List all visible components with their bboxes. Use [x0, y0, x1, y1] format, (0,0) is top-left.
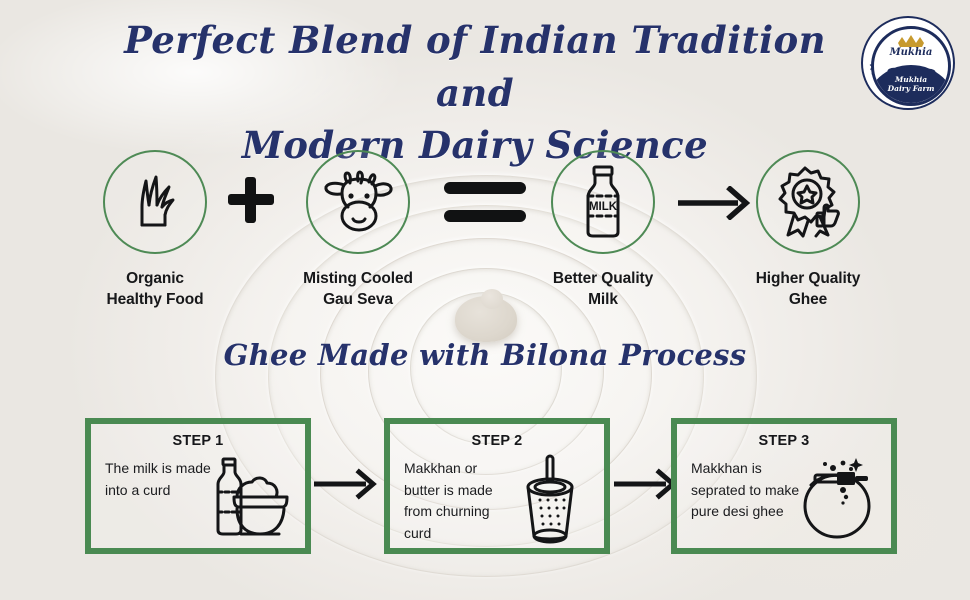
node-caption-1-line1: Organic [126, 270, 184, 287]
equals-icon [444, 180, 526, 224]
logo-brand-sub: Mukhia Dairy Farm [874, 75, 948, 94]
logo-brand-sub-line2: Dairy Farm [888, 84, 935, 93]
node-caption-4-line1: Higher Quality [756, 270, 861, 287]
step-3-title: STEP 3 [677, 433, 891, 449]
milk-droplet-top [481, 289, 503, 309]
step-3-body: Makkhan is seprated to make pure desi gh… [691, 458, 803, 523]
equation-node-organic-healthy-food: Organic Healthy Food [80, 150, 230, 310]
infographic-canvas: Perfect Blend of Indian Tradition and Mo… [0, 0, 970, 600]
award-badge-icon [772, 165, 844, 239]
node-caption-1-line2: Healthy Food [107, 291, 204, 308]
step-2-body: Makkhan or butter is made from churning … [404, 458, 516, 545]
butter-churner-icon [506, 454, 594, 546]
node-caption-3: Better Quality Milk [528, 268, 678, 310]
node-caption-2-line2: Gau Seva [323, 291, 393, 308]
icon-circle-award [756, 150, 860, 254]
equation-node-higher-quality-ghee: Higher Quality Ghee [733, 150, 883, 310]
logo-brand-sub-line1: Mukhia [895, 75, 927, 84]
step-1-title: STEP 1 [91, 433, 305, 449]
logo-inner-disc: Mukhia Mukhia Dairy Farm [871, 26, 951, 106]
node-caption-2: Misting Cooled Gau Seva [283, 268, 433, 310]
equation-node-better-quality-milk: MILK Better Quality Milk [528, 150, 678, 310]
node-caption-2-line1: Misting Cooled [303, 270, 413, 287]
step-2-title: STEP 2 [390, 433, 604, 449]
brand-logo: CERTIFIED ORGANIC FARM Mukhia Mukhia Dai… [861, 16, 955, 110]
process-step-3: STEP 3 Makkhan is seprated to make pure … [671, 418, 897, 554]
title-line-1: Perfect Blend of Indian Tradition and [110, 14, 840, 119]
step-1-body: The milk is made into a curd [105, 458, 217, 501]
page-title: Perfect Blend of Indian Tradition and Mo… [110, 14, 840, 172]
equation-node-misting-cooled-gau-seva: Misting Cooled Gau Seva [283, 150, 433, 310]
arrow-right-icon-step-1-2 [312, 468, 380, 500]
milk-bottle-icon: MILK [574, 164, 632, 240]
arrow-right-icon-step-2-3 [612, 468, 680, 500]
node-caption-3-line1: Better Quality [553, 270, 653, 287]
section-subtitle: Ghee Made with Bilona Process [185, 338, 785, 372]
icon-circle-cow [306, 150, 410, 254]
node-caption-4-line2: Ghee [789, 291, 827, 308]
cow-face-icon [320, 169, 396, 235]
icon-circle-milk-bottle: MILK [551, 150, 655, 254]
node-caption-1: Organic Healthy Food [80, 268, 230, 310]
logo-brand-name: Mukhia [874, 47, 948, 58]
plus-icon [228, 177, 274, 223]
process-step-1: STEP 1 The milk is made into a curd [85, 418, 311, 554]
icon-circle-grass [103, 150, 207, 254]
node-caption-3-line2: Milk [588, 291, 618, 308]
grass-icon [124, 171, 186, 233]
node-caption-4: Higher Quality Ghee [733, 268, 883, 310]
bottle-and-curd-bowl-icon [207, 454, 295, 546]
ghee-pot-icon [793, 454, 881, 546]
process-step-2: STEP 2 Makkhan or butter is made from ch… [384, 418, 610, 554]
milk-bottle-label: MILK [589, 201, 618, 213]
